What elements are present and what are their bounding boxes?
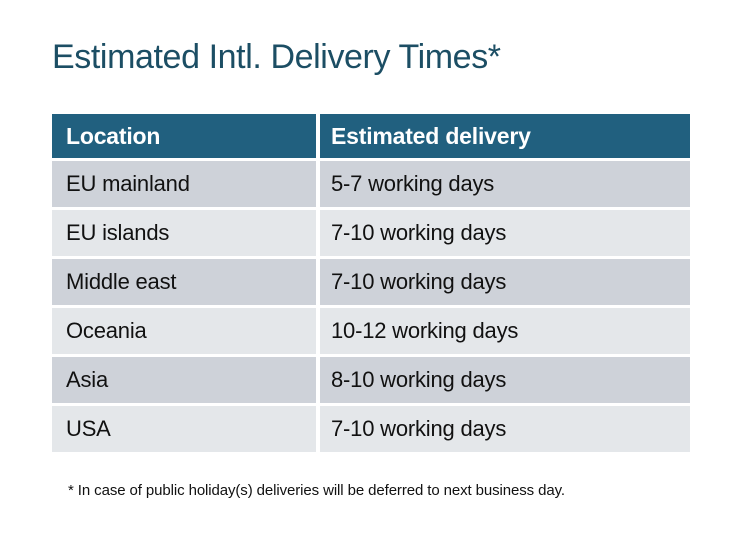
- table-header-cell-delivery: Estimated delivery: [320, 114, 690, 158]
- table-cell-delivery: 7-10 working days: [320, 259, 690, 305]
- cell-value-location: Oceania: [66, 320, 147, 342]
- column-header-location: Location: [66, 125, 160, 148]
- table-cell-delivery: 10-12 working days: [320, 308, 690, 354]
- table-cell-delivery: 5-7 working days: [320, 161, 690, 207]
- cell-value-delivery: 7-10 working days: [331, 222, 506, 244]
- table-cell-location: Middle east: [52, 259, 316, 305]
- table-cell-location: EU mainland: [52, 161, 316, 207]
- table-row: EU mainland 5-7 working days: [52, 161, 690, 207]
- footnote-text: * In case of public holiday(s) deliverie…: [68, 481, 565, 501]
- table-cell-location: USA: [52, 406, 316, 452]
- cell-value-delivery: 5-7 working days: [331, 173, 494, 195]
- cell-value-location: Middle east: [66, 271, 176, 293]
- cell-value-delivery: 7-10 working days: [331, 418, 506, 440]
- cell-value-delivery: 7-10 working days: [331, 271, 506, 293]
- table-header-cell-location: Location: [52, 114, 316, 158]
- table-cell-location: EU islands: [52, 210, 316, 256]
- delivery-times-page: Estimated Intl. Delivery Times* Location…: [0, 0, 745, 536]
- cell-value-delivery: 10-12 working days: [331, 320, 518, 342]
- cell-value-location: EU mainland: [66, 173, 190, 195]
- cell-value-delivery: 8-10 working days: [331, 369, 506, 391]
- delivery-times-table: Location Estimated delivery EU mainland …: [52, 114, 690, 452]
- table-cell-location: Oceania: [52, 308, 316, 354]
- cell-value-location: EU islands: [66, 222, 169, 244]
- table-cell-delivery: 8-10 working days: [320, 357, 690, 403]
- cell-value-location: USA: [66, 418, 111, 440]
- table-cell-delivery: 7-10 working days: [320, 210, 690, 256]
- table-row: Oceania 10-12 working days: [52, 308, 690, 354]
- table-row: Asia 8-10 working days: [52, 357, 690, 403]
- table-row: Middle east 7-10 working days: [52, 259, 690, 305]
- table-row: USA 7-10 working days: [52, 406, 690, 452]
- table-cell-delivery: 7-10 working days: [320, 406, 690, 452]
- table-cell-location: Asia: [52, 357, 316, 403]
- table-header-row: Location Estimated delivery: [52, 114, 690, 158]
- page-title: Estimated Intl. Delivery Times*: [52, 36, 501, 78]
- table-row: EU islands 7-10 working days: [52, 210, 690, 256]
- cell-value-location: Asia: [66, 369, 108, 391]
- column-header-delivery: Estimated delivery: [331, 125, 531, 148]
